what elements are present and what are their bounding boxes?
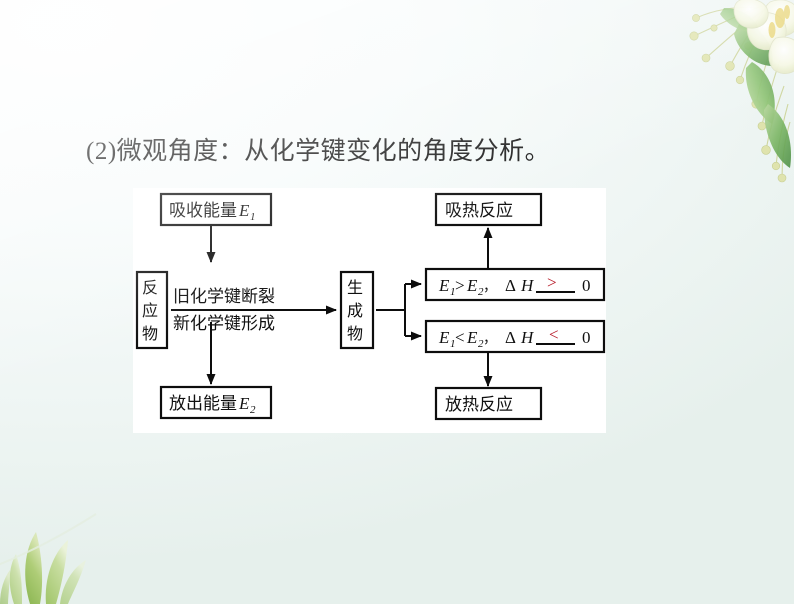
cond-exo-relation: < <box>455 328 465 347</box>
box-product: 生 成 物 <box>341 272 373 348</box>
decor-leaves-bottom-left <box>0 494 150 604</box>
reactant-char-2: 应 <box>142 301 158 320</box>
product-char-2: 成 <box>347 301 363 320</box>
slide-canvas: (2)微观角度：从化学键变化的角度分析。 <box>0 0 794 604</box>
box-release-energy: 放出能量 E 2 <box>161 387 271 418</box>
product-char-1: 生 <box>347 278 363 297</box>
box-absorb-energy: 吸收能量 E 1 <box>161 194 271 225</box>
cond-endo-zero: 0 <box>582 276 591 295</box>
chemical-bond-flowchart: 吸收能量 E 1 反 应 物 旧化学键断裂 新化学键形成 生 <box>133 188 606 433</box>
release-energy-symbol: E <box>238 394 250 413</box>
cond-exo-zero: 0 <box>582 328 591 347</box>
release-energy-label: 放出能量 <box>169 394 237 414</box>
cond-exo-comma: ， <box>483 331 497 347</box>
box-endothermic-reaction: 吸热反应 <box>436 194 541 225</box>
cond-exo-lhs: E <box>438 328 450 347</box>
cond-endo-lhs: E <box>438 276 450 295</box>
box-condition-exothermic: E 1 < E 2 ， Δ H < 0 <box>426 321 604 352</box>
decor-flowers-top-right <box>644 0 794 185</box>
box-exothermic-reaction: 放热反应 <box>436 388 541 419</box>
product-char-3: 物 <box>347 324 363 343</box>
reactant-char-3: 物 <box>142 324 158 343</box>
cond-endo-rhs: E <box>466 276 478 295</box>
cond-exo-delta: Δ <box>505 328 516 347</box>
svg-text:放热反应: 放热反应 <box>445 395 513 415</box>
label-bond-break: 旧化学键断裂 <box>173 287 275 307</box>
cond-exo-answer: < <box>549 325 559 344</box>
cond-endo-relation: > <box>455 276 465 295</box>
release-energy-subscript: 2 <box>250 404 256 416</box>
absorb-energy-symbol: E <box>238 201 250 220</box>
svg-text:旧化学键断裂: 旧化学键断裂 <box>173 287 275 307</box>
absorb-energy-subscript: 1 <box>250 211 256 223</box>
cond-endo-delta: Δ <box>505 276 516 295</box>
connector-product-to-conditions <box>376 284 421 336</box>
svg-text:新化学键形成: 新化学键形成 <box>173 314 275 334</box>
page-title: (2)微观角度：从化学键变化的角度分析。 <box>86 136 550 167</box>
cond-exo-rhs: E <box>466 328 478 347</box>
box-condition-endothermic: E 1 > E 2 ， Δ H > 0 <box>426 269 604 300</box>
label-bond-form: 新化学键形成 <box>173 314 275 334</box>
svg-text:吸热反应: 吸热反应 <box>445 201 513 221</box>
absorb-energy-label: 吸收能量 <box>169 201 237 221</box>
cond-endo-comma: ， <box>483 279 497 295</box>
cond-endo-answer: > <box>547 273 557 292</box>
cond-exo-enthalpy: H <box>520 328 535 347</box>
box-reactant: 反 应 物 <box>137 272 167 348</box>
reactant-char-1: 反 <box>142 278 158 297</box>
cond-endo-enthalpy: H <box>520 276 535 295</box>
